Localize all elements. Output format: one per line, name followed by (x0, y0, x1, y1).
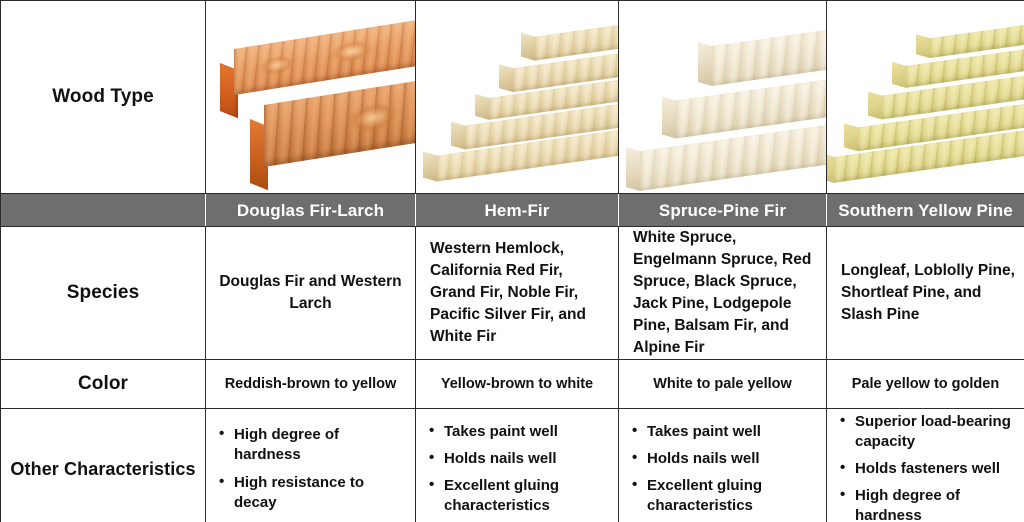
characteristics-list: Takes paint wellHolds nails wellExcellen… (416, 422, 618, 516)
characteristic-item: Superior load-bearing capacity (853, 412, 1016, 452)
board-end-5 (423, 152, 437, 182)
board-1 (711, 28, 826, 86)
cell-image-hem-fir (416, 1, 619, 194)
table-row-wood-type: Wood Type (1, 1, 1024, 194)
characteristics-list: High degree of hardnessHigh resistance t… (206, 425, 415, 512)
table-row-species: Species Douglas Fir and Western Larch We… (1, 227, 1024, 360)
board-end-3 (626, 147, 640, 191)
table-row-color: Color Reddish-brown to yellow Yellow-bro… (1, 360, 1024, 409)
cell-species-douglas-fir-larch: Douglas Fir and Western Larch (206, 227, 416, 360)
board-end-1 (521, 33, 535, 61)
color-text: White to pale yellow (619, 376, 826, 392)
board-end-2 (662, 97, 676, 139)
cell-characteristics-southern-yellow-pine: Superior load-bearing capacityHolds fast… (827, 409, 1024, 522)
row-label-wood-type: Wood Type (1, 1, 206, 194)
southern-yellow-pine-lumber-photo (827, 1, 1024, 193)
characteristic-item: Takes paint well (645, 422, 818, 442)
board-end-2 (892, 62, 906, 88)
column-header-label: Southern Yellow Pine (827, 195, 1024, 226)
characteristic-item: Excellent gluing characteristics (442, 476, 610, 516)
color-text: Yellow-brown to white (416, 376, 618, 392)
board-end-2 (499, 64, 513, 92)
characteristics-list: Superior load-bearing capacityHolds fast… (827, 412, 1024, 522)
column-header-spruce-pine-fir: Spruce-Pine Fir (619, 194, 827, 227)
douglas-fir-larch-lumber-photo (206, 1, 415, 193)
cell-image-spruce-pine-fir (619, 1, 827, 194)
cell-header-blank (1, 194, 206, 227)
row-label-other-characteristics: Other Characteristics (1, 409, 206, 522)
table-row-column-headers: Douglas Fir-Larch Hem-Fir Spruce-Pine Fi… (1, 194, 1024, 227)
column-header-label: Spruce-Pine Fir (619, 195, 826, 226)
hem-fir-lumber-photo (416, 1, 618, 193)
table-row-other-characteristics: Other Characteristics High degree of har… (1, 409, 1024, 522)
column-header-label: Douglas Fir-Larch (206, 195, 415, 226)
cell-characteristics-douglas-fir-larch: High degree of hardnessHigh resistance t… (206, 409, 416, 522)
cell-image-douglas-fir-larch (206, 1, 416, 194)
column-header-southern-yellow-pine: Southern Yellow Pine (827, 194, 1024, 227)
characteristic-item: Holds fasteners well (853, 459, 1016, 479)
board-end-3 (475, 94, 489, 120)
board-end-4 (451, 122, 465, 150)
board-end-1 (698, 42, 712, 86)
column-header-douglas-fir-larch: Douglas Fir-Larch (206, 194, 416, 227)
color-text: Reddish-brown to yellow (206, 376, 415, 392)
characteristic-item: High resistance to decay (232, 473, 407, 513)
wood-comparison-table-container: Wood Type (0, 0, 1024, 522)
board-end-5 (827, 153, 834, 183)
wood-grain-knot (260, 53, 294, 76)
species-text: Western Hemlock, California Red Fir, Gra… (416, 238, 618, 348)
characteristics-list: Takes paint wellHolds nails wellExcellen… (619, 422, 826, 516)
color-text: Pale yellow to golden (827, 376, 1024, 392)
characteristic-item: Holds nails well (645, 449, 818, 469)
species-text: White Spruce, Engelmann Spruce, Red Spru… (619, 227, 826, 359)
wood-comparison-table: Wood Type (0, 0, 1024, 522)
cell-color-southern-yellow-pine: Pale yellow to golden (827, 360, 1024, 409)
cell-color-douglas-fir-larch: Reddish-brown to yellow (206, 360, 416, 409)
row-label-species: Species (1, 227, 206, 360)
cell-color-hem-fir: Yellow-brown to white (416, 360, 619, 409)
board-end-4 (844, 123, 858, 151)
cell-characteristics-spruce-pine-fir: Takes paint wellHolds nails wellExcellen… (619, 409, 827, 522)
cell-characteristics-hem-fir: Takes paint wellHolds nails wellExcellen… (416, 409, 619, 522)
spruce-pine-fir-lumber-photo (619, 1, 826, 193)
beam-lower (264, 76, 415, 167)
characteristic-item: Takes paint well (442, 422, 610, 442)
characteristic-item: Holds nails well (442, 449, 610, 469)
wood-grain-knot (348, 100, 398, 136)
column-header-label: Hem-Fir (416, 195, 618, 226)
characteristic-item: High degree of hardness (853, 486, 1016, 522)
board-end-3 (868, 92, 882, 120)
cell-image-southern-yellow-pine (827, 1, 1024, 194)
cell-color-spruce-pine-fir: White to pale yellow (619, 360, 827, 409)
column-header-hem-fir: Hem-Fir (416, 194, 619, 227)
cell-species-southern-yellow-pine: Longleaf, Loblolly Pine, Shortleaf Pine,… (827, 227, 1024, 360)
cell-species-hem-fir: Western Hemlock, California Red Fir, Gra… (416, 227, 619, 360)
cell-species-spruce-pine-fir: White Spruce, Engelmann Spruce, Red Spru… (619, 227, 827, 360)
wood-grain-knot (330, 37, 374, 66)
beam-upper (234, 17, 415, 95)
species-text: Douglas Fir and Western Larch (206, 271, 415, 315)
characteristic-item: Excellent gluing characteristics (645, 476, 818, 516)
row-label-color: Color (1, 360, 206, 409)
characteristic-item: High degree of hardness (232, 425, 407, 465)
species-text: Longleaf, Loblolly Pine, Shortleaf Pine,… (827, 260, 1024, 326)
board-end-1 (916, 34, 930, 58)
